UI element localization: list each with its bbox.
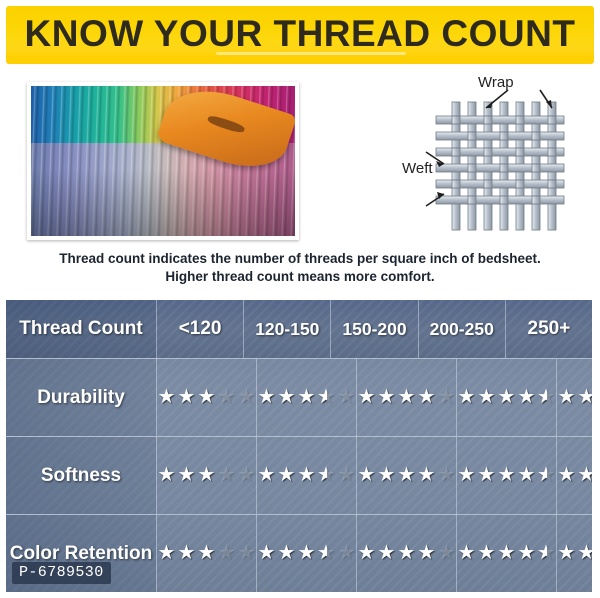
rating-cell: ★★★★★★★★★★ — [356, 437, 456, 514]
star-icon: ★★ — [497, 544, 516, 563]
star-icon: ★★ — [437, 544, 456, 563]
rating-cell: ★★★★★★★★★★ — [456, 437, 556, 514]
watermark-badge: P-6789530 — [12, 562, 111, 584]
star-icon: ★★ — [177, 544, 196, 563]
star-icon: ★★ — [497, 388, 516, 407]
star-rating: ★★★★★★★★★★ — [557, 388, 592, 407]
star-icon: ★★ — [437, 466, 456, 485]
star-icon: ★★ — [257, 388, 276, 407]
rating-cell: ★★★★★★★★★★ — [256, 359, 356, 436]
column-header-label: 250+ — [528, 318, 571, 340]
rating-cell: ★★★★★★★★★★ — [256, 515, 356, 592]
star-icon: ★★ — [177, 388, 196, 407]
column-header-0: <120 — [156, 300, 243, 358]
star-rating: ★★★★★★★★★★ — [357, 388, 456, 407]
star-rating: ★★★★★★★★★★ — [157, 544, 256, 563]
star-icon: ★★ — [197, 466, 216, 485]
star-icon: ★★ — [157, 544, 176, 563]
star-icon: ★★ — [577, 466, 592, 485]
rating-cell: ★★★★★★★★★★ — [556, 515, 592, 592]
star-icon: ★★ — [337, 388, 356, 407]
row-label-cell: Durability — [6, 359, 156, 436]
star-icon: ★★ — [277, 466, 296, 485]
star-icon: ★★ — [197, 388, 216, 407]
star-icon: ★★ — [437, 388, 456, 407]
star-icon: ★★ — [417, 544, 436, 563]
row-label: Durability — [37, 386, 125, 409]
star-icon: ★★ — [257, 544, 276, 563]
star-icon: ★★ — [357, 466, 376, 485]
star-icon: ★★ — [377, 466, 396, 485]
star-rating: ★★★★★★★★★★ — [457, 466, 556, 485]
star-icon: ★★ — [537, 388, 556, 407]
star-rating: ★★★★★★★★★★ — [257, 466, 356, 485]
star-rating: ★★★★★★★★★★ — [557, 466, 592, 485]
photo-vignette — [31, 86, 295, 236]
star-icon: ★★ — [477, 388, 496, 407]
loom-photo-frame — [27, 82, 299, 240]
star-icon: ★★ — [237, 544, 256, 563]
rating-cell: ★★★★★★★★★★ — [156, 515, 256, 592]
star-icon: ★★ — [277, 388, 296, 407]
star-rating: ★★★★★★★★★★ — [157, 388, 256, 407]
star-icon: ★★ — [557, 466, 576, 485]
star-icon: ★★ — [477, 544, 496, 563]
star-icon: ★★ — [297, 544, 316, 563]
column-header-label: 150-200 — [342, 319, 406, 340]
column-header-1: 120-150 — [243, 300, 330, 358]
row-label-cell: Softness — [6, 437, 156, 514]
star-icon: ★★ — [197, 544, 216, 563]
star-icon: ★★ — [217, 466, 236, 485]
star-icon: ★★ — [357, 388, 376, 407]
star-icon: ★★ — [517, 466, 536, 485]
table-corner-label: Thread Count — [19, 318, 143, 340]
star-rating: ★★★★★★★★★★ — [157, 466, 256, 485]
star-icon: ★★ — [377, 388, 396, 407]
caption-block: Thread count indicates the number of thr… — [0, 250, 600, 286]
column-header-label: 200-250 — [430, 319, 494, 340]
loom-photo — [31, 86, 295, 236]
star-icon: ★★ — [237, 388, 256, 407]
star-rating: ★★★★★★★★★★ — [257, 388, 356, 407]
star-icon: ★★ — [297, 388, 316, 407]
rating-cell: ★★★★★★★★★★ — [556, 359, 592, 436]
star-icon: ★★ — [317, 388, 336, 407]
star-rating: ★★★★★★★★★★ — [357, 544, 456, 563]
star-icon: ★★ — [457, 466, 476, 485]
star-icon: ★★ — [357, 544, 376, 563]
star-icon: ★★ — [277, 544, 296, 563]
star-icon: ★★ — [297, 466, 316, 485]
star-icon: ★★ — [317, 544, 336, 563]
infographic-root: KNOW YOUR THREAD COUNT — [0, 0, 600, 598]
star-icon: ★★ — [397, 544, 416, 563]
star-rating: ★★★★★★★★★★ — [557, 544, 592, 563]
star-icon: ★★ — [517, 388, 536, 407]
star-icon: ★★ — [157, 466, 176, 485]
star-icon: ★★ — [537, 544, 556, 563]
rating-cell: ★★★★★★★★★★ — [456, 359, 556, 436]
rating-cell: ★★★★★★★★★★ — [456, 515, 556, 592]
column-header-label: 120-150 — [255, 319, 319, 340]
rating-cell: ★★★★★★★★★★ — [356, 515, 456, 592]
star-icon: ★★ — [177, 466, 196, 485]
star-rating: ★★★★★★★★★★ — [457, 544, 556, 563]
rating-cell: ★★★★★★★★★★ — [156, 437, 256, 514]
star-rating: ★★★★★★★★★★ — [457, 388, 556, 407]
star-icon: ★★ — [337, 466, 356, 485]
star-icon: ★★ — [557, 388, 576, 407]
star-icon: ★★ — [577, 544, 592, 563]
star-icon: ★★ — [377, 544, 396, 563]
star-icon: ★★ — [577, 388, 592, 407]
star-icon: ★★ — [497, 466, 516, 485]
star-icon: ★★ — [217, 388, 236, 407]
header-banner: KNOW YOUR THREAD COUNT — [6, 6, 594, 64]
star-icon: ★★ — [237, 466, 256, 485]
rating-cell: ★★★★★★★★★★ — [556, 437, 592, 514]
page-title: KNOW YOUR THREAD COUNT — [6, 13, 594, 55]
star-icon: ★★ — [157, 388, 176, 407]
star-icon: ★★ — [557, 544, 576, 563]
thread-count-table: Thread Count <120 120-150 150-200 200-25… — [6, 300, 592, 592]
star-icon: ★★ — [477, 466, 496, 485]
star-icon: ★★ — [417, 388, 436, 407]
caption-line-1: Thread count indicates the number of thr… — [0, 250, 600, 268]
column-header-2: 150-200 — [330, 300, 417, 358]
star-icon: ★★ — [457, 544, 476, 563]
rating-cell: ★★★★★★★★★★ — [256, 437, 356, 514]
star-icon: ★★ — [397, 388, 416, 407]
star-icon: ★★ — [537, 466, 556, 485]
wrap-label: Wrap — [478, 74, 514, 91]
star-icon: ★★ — [397, 466, 416, 485]
star-icon: ★★ — [217, 544, 236, 563]
rating-cell: ★★★★★★★★★★ — [356, 359, 456, 436]
weave-diagram: Wrap Weft — [400, 72, 590, 252]
rating-cell: ★★★★★★★★★★ — [156, 359, 256, 436]
row-label: Softness — [41, 464, 121, 487]
column-header-4: 250+ — [505, 300, 592, 358]
star-icon: ★★ — [517, 544, 536, 563]
column-header-label: <120 — [179, 318, 222, 340]
caption-line-2: Higher thread count means more comfort. — [0, 268, 600, 286]
star-icon: ★★ — [337, 544, 356, 563]
star-rating: ★★★★★★★★★★ — [357, 466, 456, 485]
table-row: Durability ★★★★★★★★★★ ★★★★★★★★★★ ★★★★★★★… — [6, 358, 592, 436]
table-corner-cell: Thread Count — [6, 300, 156, 358]
weft-label: Weft — [402, 160, 433, 177]
table-row: Softness ★★★★★★★★★★ ★★★★★★★★★★ ★★★★★★★★★… — [6, 436, 592, 514]
star-icon: ★★ — [417, 466, 436, 485]
star-icon: ★★ — [257, 466, 276, 485]
star-icon: ★★ — [457, 388, 476, 407]
column-header-3: 200-250 — [418, 300, 505, 358]
table-header-row: Thread Count <120 120-150 150-200 200-25… — [6, 300, 592, 358]
media-section: Wrap Weft Thread count indicates the num… — [0, 64, 600, 300]
title-underline-highlight — [216, 52, 406, 55]
star-rating: ★★★★★★★★★★ — [257, 544, 356, 563]
star-icon: ★★ — [317, 466, 336, 485]
